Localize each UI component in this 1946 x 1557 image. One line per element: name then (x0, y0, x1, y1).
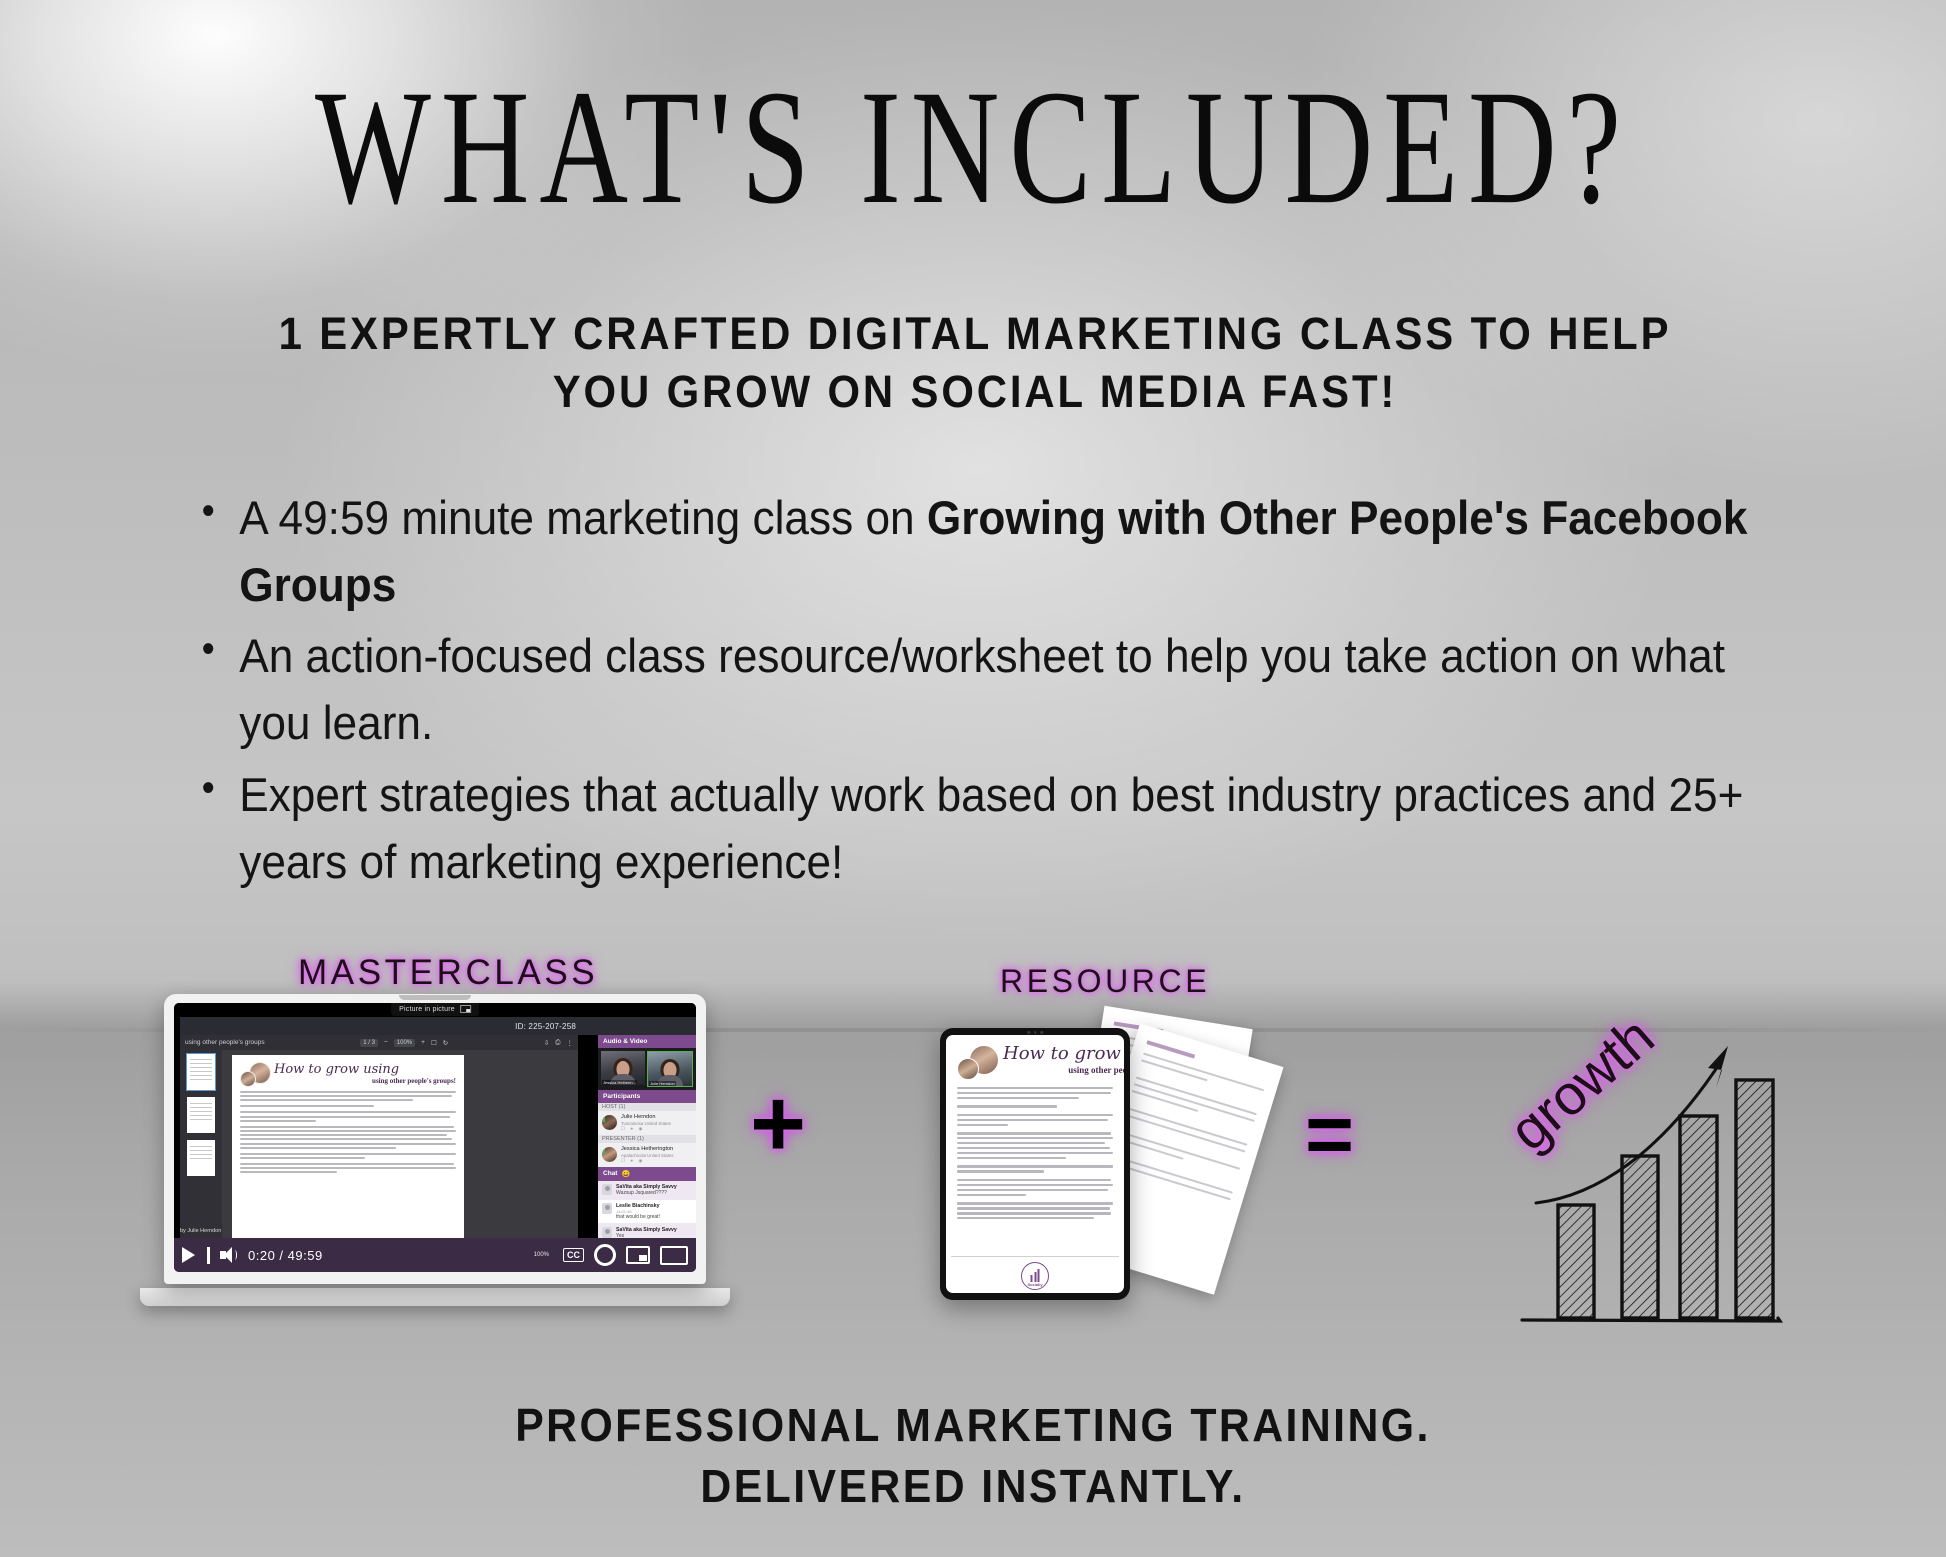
participant-name: Julie Herndon (621, 1114, 671, 1121)
footer-tagline: PROFESSIONAL MARKETING TRAINING. DELIVER… (68, 1395, 1878, 1517)
tablet-camera-icon (1027, 1031, 1043, 1034)
poster-canvas: WHAT'S INCLUDED? 1 EXPERTLY CRAFTED DIGI… (0, 0, 1946, 1557)
pip-icon (460, 1005, 471, 1013)
chat-text: that would be great! (616, 1214, 660, 1220)
footer-line-1: PROFESSIONAL MARKETING TRAINING. (68, 1395, 1878, 1456)
bullet-lead-text: An action-focused class resource/workshe… (239, 629, 1725, 749)
camera-tile[interactable]: Julie Herndon (647, 1051, 693, 1087)
participants-label: Participants (603, 1093, 640, 1100)
document-header: How to grow using using other people's g… (240, 1062, 456, 1086)
avatar (602, 1203, 612, 1214)
plus-symbol: + (750, 1076, 806, 1172)
chat-message-list: SaVita aka Simply Savvy Wazsup Jsquared?… (598, 1181, 696, 1238)
tablet-screen: How to grow using using other people's g… (946, 1035, 1124, 1293)
laptop-mockup: Picture in picture ID: 225-207-258 using… (140, 994, 730, 1304)
presenter-role-label: PRESENTER (1) (598, 1135, 696, 1143)
document-page: How to grow using using other people's g… (232, 1055, 464, 1238)
time-display: 0:20 / 49:59 (248, 1248, 323, 1263)
page-title: WHAT'S INCLUDED? (10, 66, 1937, 230)
download-icon[interactable]: ⇩ (544, 1039, 549, 1047)
webinar-side-panels: Audio & Video Jessica Hetherin... Julie … (598, 1035, 696, 1238)
list-item: An action-focused class resource/workshe… (196, 623, 1756, 756)
resource-label: RESOURCE (1000, 963, 1210, 1000)
equals-symbol: = (1305, 1092, 1354, 1176)
avatar (602, 1184, 612, 1195)
laptop-screen: Picture in picture ID: 225-207-258 using… (174, 1003, 696, 1272)
audio-video-label: Audio & Video (603, 1038, 647, 1045)
host-role-label: HOST (1) (598, 1103, 696, 1111)
picture-in-picture-icon[interactable] (626, 1246, 650, 1264)
fit-page-icon[interactable]: ☐ (431, 1039, 437, 1047)
worksheet-body (957, 1087, 1113, 1219)
video-byline: by Julie Herndon (180, 1228, 221, 1234)
page-thumbnail[interactable] (187, 1140, 215, 1176)
list-item[interactable]: Julie Herndon Tuscaloosa United States ☐… (598, 1111, 696, 1135)
page-indicator: 1 / 3 (360, 1039, 378, 1047)
closed-caption-button[interactable]: CC (563, 1248, 584, 1262)
resource-mockup: How to grow using using other people's g… (930, 1010, 1290, 1320)
zoom-level: 100% (394, 1039, 415, 1047)
document-tab-title: using other people's groups (185, 1039, 265, 1046)
print-icon[interactable]: ⎙ (555, 1039, 560, 1047)
zoom-out-icon[interactable]: − (384, 1039, 388, 1046)
bullet-lead-text: A 49:59 minute marketing class on (239, 491, 927, 544)
tablet-mockup: How to grow using using other people's g… (940, 1028, 1130, 1300)
worksheet-header: How to grow using using other people's g… (957, 1045, 1113, 1079)
list-item[interactable]: Jessica Hetherington Apalachicola United… (598, 1143, 696, 1167)
page-thumbnail-rail[interactable] (180, 1050, 222, 1238)
chat-label: Chat (603, 1170, 617, 1177)
logo-text: Socially (1022, 1282, 1048, 1287)
list-item: Leslie Biachinsky 14:01:45 that would be… (598, 1200, 696, 1224)
participant-status-icons: ☐ ● ◉ (621, 1158, 673, 1164)
list-item: Expert strategies that actually work bas… (196, 762, 1756, 895)
camera-name: Julie Herndon (649, 1081, 676, 1086)
more-options-icon[interactable]: ⋮ (567, 1039, 574, 1047)
gear-icon[interactable] (594, 1244, 616, 1266)
worksheet-subheadline: using other people's groups! (1003, 1065, 1124, 1075)
laptop-base (140, 1288, 730, 1306)
avatar (602, 1227, 612, 1238)
laptop-notch (399, 995, 471, 1000)
footer-line-2: DELIVERED INSTANTLY. (68, 1456, 1878, 1517)
pip-label: Picture in picture (399, 1006, 455, 1013)
chart-bar (1622, 1156, 1658, 1318)
avatar (240, 1062, 271, 1086)
fullscreen-icon[interactable] (660, 1246, 688, 1265)
list-item: A 49:59 minute marketing class on Growin… (196, 485, 1756, 618)
divider (951, 1256, 1119, 1257)
document-viewer: using other people's groups 1 / 3 − 100%… (180, 1035, 578, 1238)
page-thumbnail[interactable] (187, 1097, 215, 1133)
audio-video-panel-header[interactable]: Audio & Video (598, 1035, 696, 1048)
worksheet-headline: How to grow using (1003, 1045, 1124, 1063)
participant-status-icons: ☐ ● ◉ (621, 1126, 671, 1132)
participants-panel-header[interactable]: Participants (598, 1090, 696, 1103)
picture-in-picture-button[interactable]: Picture in picture (391, 1003, 479, 1016)
chart-bar (1558, 1205, 1594, 1318)
document-toolbar: using other people's groups 1 / 3 − 100%… (180, 1035, 578, 1050)
avatar (602, 1115, 617, 1130)
chart-bar (1680, 1116, 1717, 1318)
meeting-id-bar: ID: 225-207-258 (180, 1017, 696, 1035)
worksheet-footer: Socially (951, 1256, 1119, 1290)
camera-tile[interactable]: Jessica Hetherin... (601, 1051, 645, 1085)
bullet-lead-text: Expert strategies that actually work bas… (239, 768, 1743, 888)
play-bar-icon (207, 1247, 210, 1264)
document-body (240, 1091, 456, 1173)
chart-bar (1736, 1080, 1773, 1318)
volume-icon[interactable] (220, 1247, 238, 1263)
video-player-controls: by Julie Herndon 0:20 / 49:59 100% CC (174, 1238, 696, 1272)
subheading: 1 EXPERTLY CRAFTED DIGITAL MARKETING CLA… (226, 305, 1723, 420)
avatar (602, 1147, 617, 1162)
brand-logo: Socially (1021, 1262, 1049, 1290)
chat-text: Wazsup Jsquared???? (616, 1190, 677, 1196)
chat-author: SaVita aka Simply Savvy (616, 1227, 677, 1233)
list-item: SaVita aka Simply Savvy Wazsup Jsquared?… (598, 1181, 696, 1200)
camera-name: Jessica Hetherin... (602, 1080, 637, 1085)
camera-tiles: Jessica Hetherin... Julie Herndon (598, 1048, 696, 1090)
emoji-icon[interactable]: 😀 (621, 1170, 630, 1178)
document-subheadline: using other people's groups! (274, 1077, 456, 1085)
growth-chart: growth (1500, 1000, 1830, 1340)
avatar (957, 1045, 999, 1079)
document-headline: How to grow using (274, 1063, 456, 1076)
rotate-icon[interactable]: ↻ (443, 1039, 448, 1047)
feature-bullet-list: A 49:59 minute marketing class on Growin… (196, 485, 1756, 900)
participant-list: HOST (1) Julie Herndon Tuscaloosa United… (598, 1103, 696, 1167)
play-icon[interactable] (182, 1247, 195, 1263)
chat-panel-header[interactable]: Chat 😀 (598, 1167, 696, 1181)
participant-name: Jessica Hetherington (621, 1146, 673, 1153)
masterclass-label: MASTERCLASS (298, 953, 598, 993)
zoom-in-icon[interactable]: + (421, 1039, 425, 1046)
meeting-id: ID: 225-207-258 (515, 1022, 576, 1031)
laptop-body: Picture in picture ID: 225-207-258 using… (164, 994, 706, 1284)
zoom-readout: 100% (534, 1252, 549, 1258)
list-item: SaVita aka Simply Savvy Yes (598, 1224, 696, 1238)
page-thumbnail[interactable] (187, 1054, 215, 1090)
